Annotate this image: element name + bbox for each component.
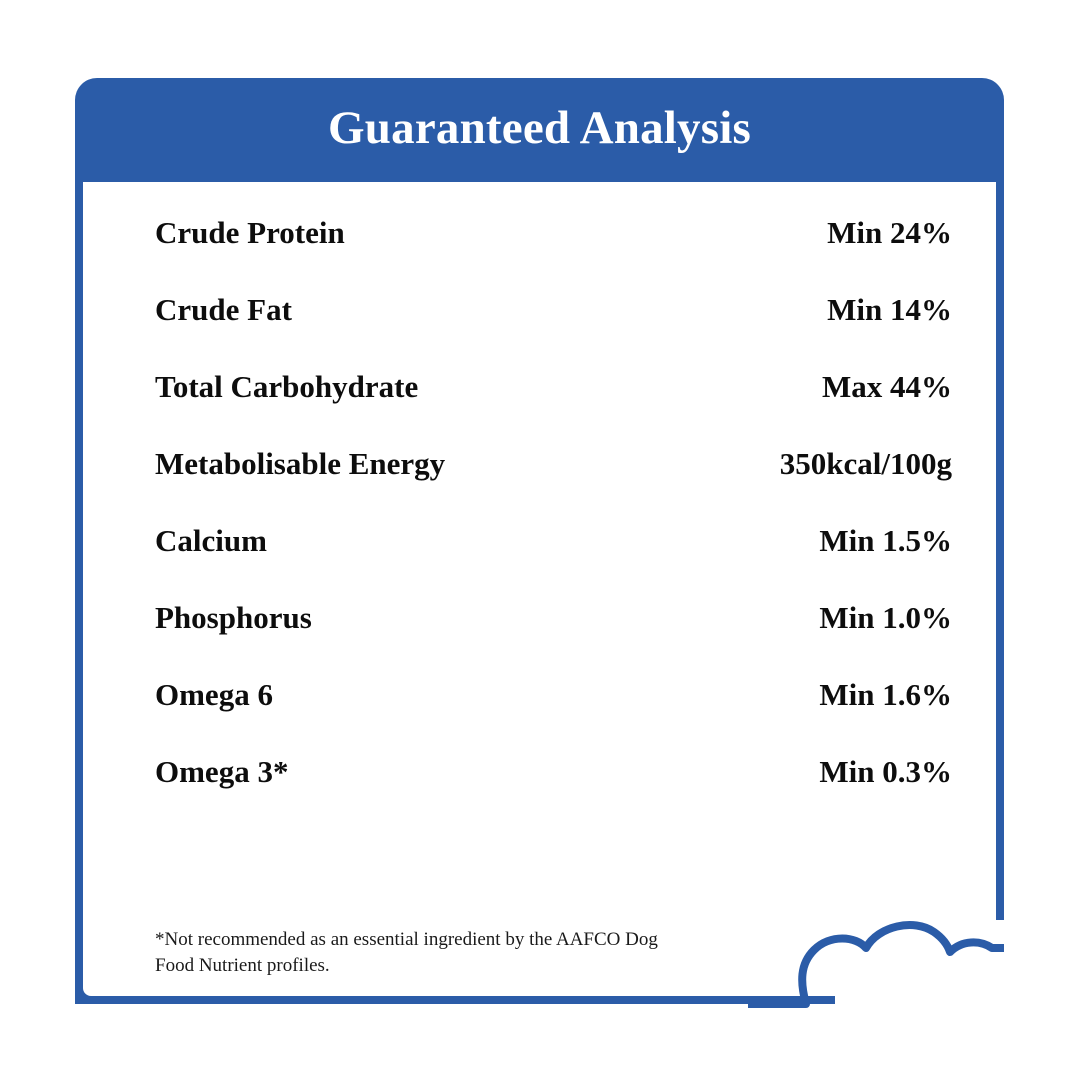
nutrient-value: Max 44% [822,370,952,404]
table-row: Omega 3*Min 0.3% [155,755,952,832]
nutrient-value: Min 1.0% [819,601,952,635]
nutrient-value: Min 0.3% [819,755,952,789]
card-header: Guaranteed Analysis [75,78,1004,182]
nutrient-value: 350kcal/100g [780,447,952,481]
card-border-bottom [75,996,835,1004]
page-canvas: Guaranteed Analysis Crude ProteinMin 24%… [0,0,1080,1080]
footnote: *Not recommended as an essential ingredi… [155,927,795,979]
table-row: Omega 6Min 1.6% [155,678,952,755]
table-row: Crude ProteinMin 24% [155,216,952,293]
table-row: PhosphorusMin 1.0% [155,601,952,678]
page-title: Guaranteed Analysis [328,105,751,156]
nutrient-label: Calcium [155,524,267,558]
nutrient-label: Crude Protein [155,216,345,250]
table-row: CalciumMin 1.5% [155,524,952,601]
guaranteed-analysis-card: Guaranteed Analysis Crude ProteinMin 24%… [75,78,1004,1004]
nutrient-value: Min 14% [827,293,952,327]
nutrient-label: Metabolisable Energy [155,447,445,481]
nutrient-label: Total Carbohydrate [155,370,418,404]
nutrient-label: Crude Fat [155,293,292,327]
table-row: Crude FatMin 14% [155,293,952,370]
nutrient-label: Phosphorus [155,601,312,635]
table-row: Metabolisable Energy350kcal/100g [155,447,952,524]
table-row: Total CarbohydrateMax 44% [155,370,952,447]
nutrient-value: Min 1.6% [819,678,952,712]
card-border-right [996,168,1004,920]
footnote-line-1: *Not recommended as an essential ingredi… [155,927,795,953]
footnote-line-2: Food Nutrient profiles. [155,953,795,979]
nutrition-table: Crude ProteinMin 24%Crude FatMin 14%Tota… [155,216,952,832]
card-border-left [75,168,83,1004]
nutrient-value: Min 24% [827,216,952,250]
nutrient-label: Omega 6 [155,678,273,712]
nutrient-value: Min 1.5% [819,524,952,558]
nutrient-label: Omega 3* [155,755,288,789]
